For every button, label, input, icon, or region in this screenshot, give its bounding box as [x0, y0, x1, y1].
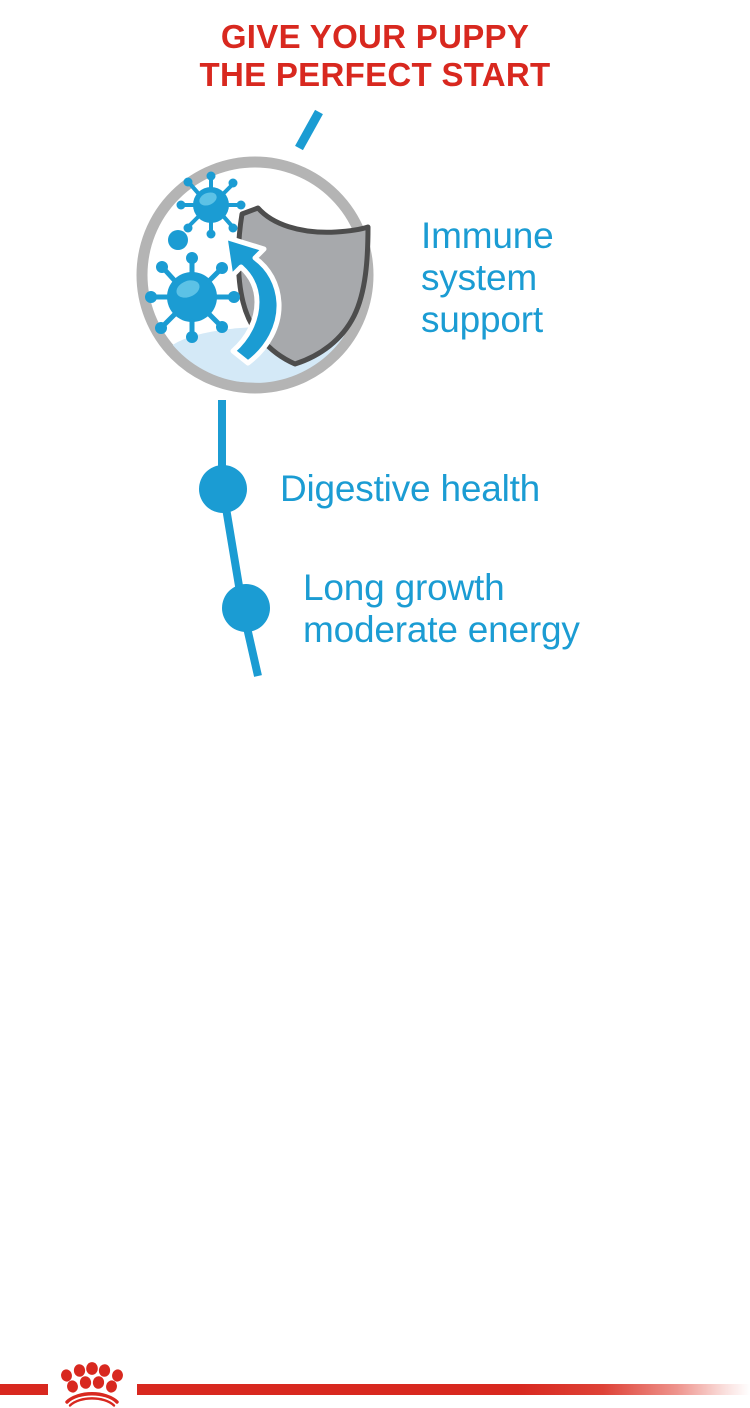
benefit-2-line-1: Digestive health: [280, 468, 720, 510]
particle-dot: [168, 230, 188, 250]
crown-icon: [52, 1358, 132, 1408]
circle-ring: [142, 162, 368, 388]
headline-line-2: THE PERFECT START: [0, 56, 750, 94]
footer-rule-right: [137, 1384, 750, 1395]
benefit-label-digestive-health: Digestive health: [280, 468, 720, 510]
benefit-1-line-1: Immune: [421, 215, 721, 257]
poster-canvas: GIVE YOUR PUPPY THE PERFECT START: [0, 0, 750, 750]
benefit-1-line-2: system: [421, 257, 721, 299]
footer: [0, 686, 750, 750]
connector-node-digestive: [199, 465, 247, 513]
arrow-icon: [225, 237, 279, 363]
benefit-1-line-3: support: [421, 299, 721, 341]
connector-node-growth: [222, 584, 270, 632]
page-title: GIVE YOUR PUPPY THE PERFECT START: [0, 18, 750, 94]
benefit-label-immune-system-support: Immune system support: [421, 215, 721, 341]
shield-icon: [238, 208, 368, 364]
virus-icon-large: [145, 252, 240, 343]
shield-virus-icon: [142, 162, 370, 388]
footer-rule-left: [0, 1384, 48, 1395]
pool-shadow: [166, 327, 370, 383]
virus-icon-small: [177, 172, 246, 239]
benefit-3-line-1: Long growth: [303, 567, 733, 609]
connector-tick-top: [299, 112, 319, 148]
headline-line-1: GIVE YOUR PUPPY: [0, 18, 750, 56]
benefit-3-line-2: moderate energy: [303, 609, 733, 651]
connector-line: [222, 400, 258, 676]
benefit-label-long-growth-moderate-energy: Long growth moderate energy: [303, 567, 733, 651]
